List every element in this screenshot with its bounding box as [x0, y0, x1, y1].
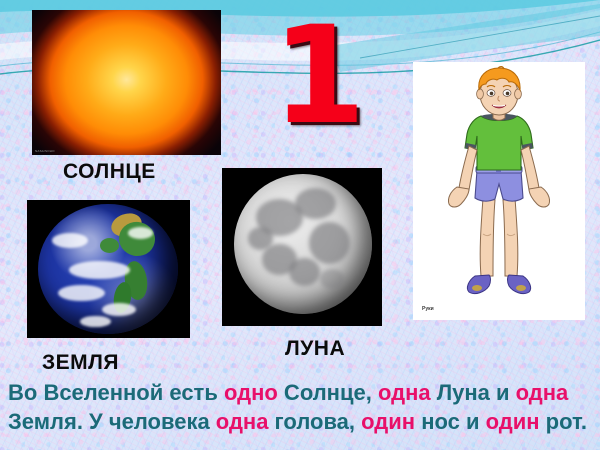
highlighted-word: один: [486, 409, 540, 434]
sentence-line-1: Во Вселенной есть одно Солнце, одна Луна…: [8, 378, 594, 407]
boy-caption-hands: Руки: [422, 306, 434, 312]
slide-canvas: NASA/SOHO СОЛНЦЕ ЗЕМЛЯ: [0, 0, 600, 450]
label-sun: СОЛНЦЕ: [63, 160, 156, 184]
sun-disc: [32, 10, 221, 155]
highlighted-word: одна: [378, 380, 431, 405]
sentence-text-run: рот.: [540, 409, 587, 434]
label-moon: ЛУНА: [285, 337, 345, 361]
highlighted-word: одна: [516, 380, 569, 405]
highlighted-word: один: [361, 409, 415, 434]
sentence-text-run: Земля. У человека: [8, 409, 216, 434]
moon-photo: [222, 168, 382, 326]
earth-globe: [38, 204, 178, 334]
sentence-text-run: Солнце,: [278, 380, 378, 405]
moon-globe: [234, 174, 372, 314]
label-earth: ЗЕМЛЯ: [42, 351, 119, 375]
highlighted-word: одно: [224, 380, 278, 405]
sentence-block: Во Вселенной есть одно Солнце, одна Луна…: [8, 378, 594, 436]
earth-photo: [27, 200, 190, 338]
sentence-text-run: Во Вселенной есть: [8, 380, 224, 405]
highlighted-word: одна: [216, 409, 269, 434]
sentence-line-2: Земля. У человека одна голова, один нос …: [8, 407, 594, 436]
sun-photo-credit: NASA/SOHO: [35, 149, 55, 153]
boy-figure: [413, 66, 585, 306]
sun-photo: NASA/SOHO: [32, 10, 221, 155]
big-number-one: 1: [272, 8, 364, 143]
sentence-text-run: нос и: [415, 409, 486, 434]
boy-illustration-panel: Руки: [413, 62, 585, 320]
sentence-text-run: голова,: [268, 409, 361, 434]
sentence-text-run: Луна и: [431, 380, 516, 405]
